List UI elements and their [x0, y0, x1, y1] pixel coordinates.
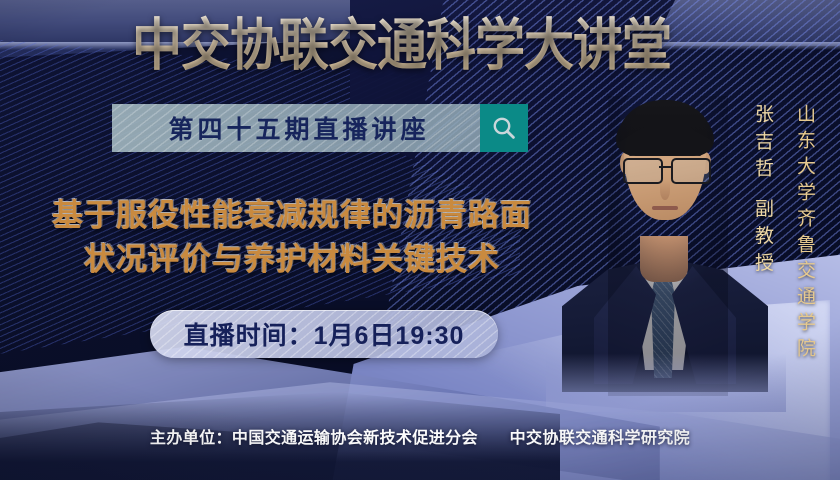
lecture-poster: 中交协联交通科学大讲堂 中交协联交通科学大讲堂 第四十五期直播讲座 基于服役性能…: [0, 0, 840, 480]
portrait-glasses: [622, 158, 710, 182]
organizer-footer: 主办单位：中国交通运输协会新技术促进分会 中交协联交通科学研究院: [0, 424, 840, 448]
portrait-mouth: [652, 206, 678, 210]
glasses-bridge: [659, 166, 673, 168]
portrait-tie: [650, 272, 676, 378]
glasses-lens-left: [623, 158, 663, 184]
lecture-title-line-2: 状况评价与养护材料关键技术: [18, 238, 566, 282]
episode-label: 第四十五期直播讲座: [112, 104, 480, 152]
speaker-name: 张吉哲 副教授: [749, 104, 776, 284]
organizer-primary: 主办单位：中国交通运输协会新技术促进分会: [150, 430, 478, 447]
lecture-title-line-1: 基于服役性能衰减规律的沥青路面: [52, 198, 532, 233]
organizer-secondary: 中交协联交通科学研究院: [510, 430, 690, 447]
portrait-neck: [640, 236, 688, 282]
search-icon: [491, 115, 517, 141]
episode-banner: 第四十五期直播讲座: [112, 104, 528, 152]
broadcast-time-text: 直播时间：1月6日19:30: [184, 316, 465, 352]
speaker-institution: 山东大学齐鲁交通学院: [791, 104, 818, 364]
glasses-lens-right: [671, 158, 711, 184]
search-button[interactable]: [480, 104, 528, 152]
portrait-nose: [660, 180, 670, 200]
speaker-portrait: [560, 86, 770, 386]
page-title: 中交协联交通科学大讲堂: [132, 14, 692, 77]
lecture-title: 基于服役性能衰减规律的沥青路面 状况评价与养护材料关键技术: [18, 194, 566, 282]
broadcast-time-badge: 直播时间：1月6日19:30: [150, 310, 498, 358]
